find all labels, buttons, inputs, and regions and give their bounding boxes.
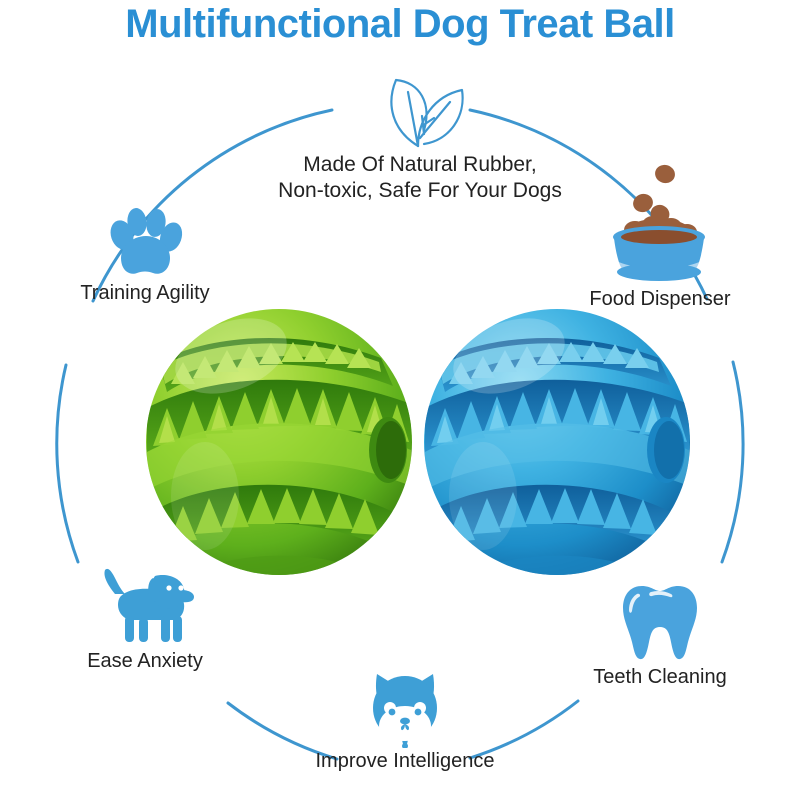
feature-label-line-1: Made Of Natural Rubber, (303, 153, 536, 176)
feature-teeth-cleaning: Teeth Cleaning (555, 580, 765, 689)
dog-head-icon (363, 668, 447, 748)
feature-improve-intelligence: Improve Intelligence (295, 668, 515, 773)
ring-arc-right (722, 362, 743, 562)
ring-arc-left (57, 365, 78, 562)
feature-label-line-2: Non-toxic, Safe For Your Dogs (278, 179, 562, 202)
food-bowl-icon (595, 158, 725, 286)
treat-ball-green (145, 300, 413, 585)
feature-natural-rubber: Made Of Natural Rubber, Non-toxic, Safe … (240, 64, 600, 205)
feature-label-improve-intelligence: Improve Intelligence (295, 750, 515, 773)
tooth-icon (615, 580, 705, 664)
leaf-icon (372, 64, 468, 150)
paw-icon (104, 208, 186, 280)
feature-training-agility: Training Agility (40, 208, 250, 305)
feature-label-teeth-cleaning: Teeth Cleaning (555, 666, 765, 689)
feature-food-dispenser: Food Dispenser (555, 158, 765, 311)
feature-label-ease-anxiety: Ease Anxiety (55, 650, 235, 673)
infographic-page: Multifunctional Dog Treat Ball (0, 0, 800, 800)
treat-ball-blue (423, 300, 691, 585)
product-image (145, 300, 685, 585)
feature-label-natural-rubber: Made Of Natural Rubber, Non-toxic, Safe … (240, 152, 600, 205)
